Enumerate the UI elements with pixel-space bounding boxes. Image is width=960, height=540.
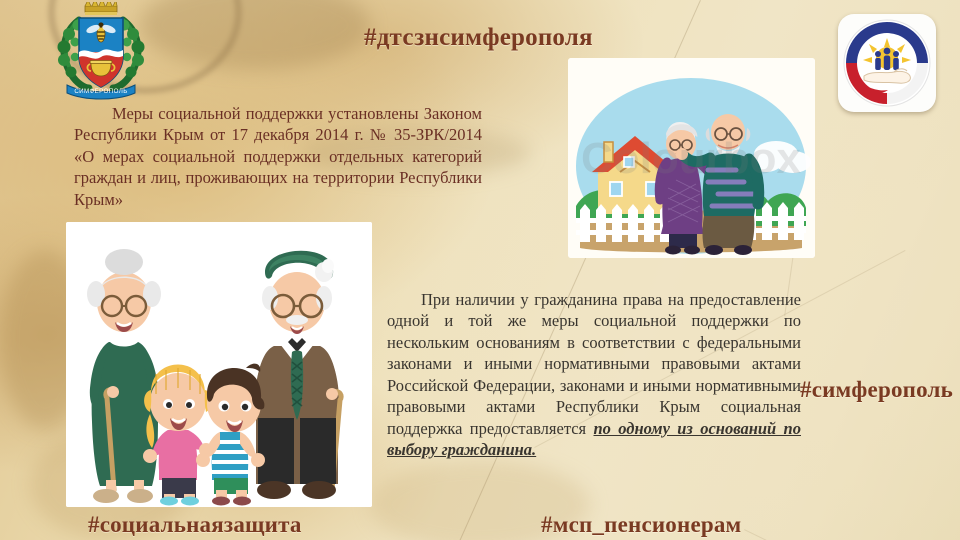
social-protection-department-logo [838, 14, 936, 112]
elderly-couple-house-illustration: Colourbox [568, 58, 815, 258]
grandmother-figure [87, 249, 161, 503]
shield [79, 18, 123, 87]
watermark-text: Colourbox [581, 134, 802, 183]
crown-icon [85, 2, 117, 15]
law-reference-paragraph: Меры социальной поддержки установлены За… [74, 103, 482, 210]
grandparents-with-grandchildren-illustration [66, 222, 372, 507]
ribbon: СИМФЕРОПОЛЬ [67, 85, 135, 99]
map-crease-3 [744, 529, 960, 540]
background-smudge-1 [140, 0, 370, 70]
presentation-slide: СИМФЕРОПОЛЬ [0, 0, 960, 540]
selection-rule-lead: При наличии у гражданина права на предос… [387, 290, 801, 438]
ribbon-label: СИМФЕРОПОЛЬ [74, 88, 127, 95]
hashtag-socialnaya-zashchita[interactable]: #социальнаязащита [88, 512, 302, 538]
hashtag-msp-pensioneram[interactable]: #мсп_пенсионерам [541, 512, 741, 538]
selection-rule-paragraph: При наличии у гражданина права на предос… [387, 289, 801, 461]
grandfather-figure [255, 251, 341, 499]
coat-of-arms-simferopol: СИМФЕРОПОЛЬ [45, 2, 157, 102]
hashtag-simferopol[interactable]: #симферополь [800, 377, 953, 403]
hashtag-dtszn-simferopolya[interactable]: #дтсзнсимферополя [364, 24, 593, 52]
